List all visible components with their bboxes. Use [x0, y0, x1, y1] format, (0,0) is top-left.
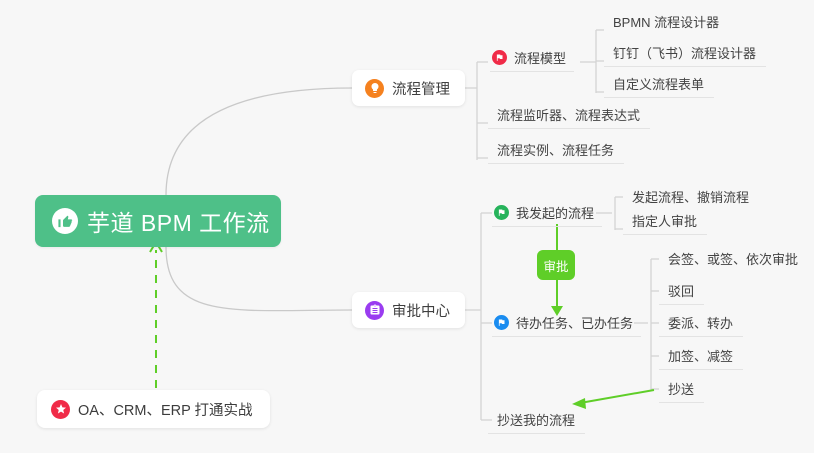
- leaf-process-listener-expression[interactable]: 流程监听器、流程表达式: [488, 101, 650, 129]
- root-node[interactable]: 芋道 BPM 工作流: [35, 195, 281, 247]
- branch-label: 流程管理: [392, 78, 450, 99]
- lightbulb-icon: [365, 79, 384, 98]
- flag-icon: [494, 315, 509, 330]
- node-my-started-process[interactable]: 我发起的流程: [492, 199, 602, 227]
- star-icon: [51, 400, 70, 419]
- leaf-assignee-approval[interactable]: 指定人审批: [623, 207, 707, 235]
- leaf-custom-process-form[interactable]: 自定义流程表单: [604, 70, 714, 98]
- thumbs-up-icon: [52, 208, 78, 234]
- branch-node-process-management[interactable]: 流程管理: [352, 70, 465, 106]
- branch-label: 审批中心: [392, 300, 450, 321]
- node-todo-done-tasks[interactable]: 待办任务、已办任务: [492, 309, 641, 337]
- integration-callout-card[interactable]: OA、CRM、ERP 打通实战: [37, 390, 270, 428]
- node-process-model[interactable]: 流程模型: [490, 44, 574, 72]
- leaf-reject[interactable]: 驳回: [659, 277, 704, 305]
- leaf-countersign-orsign-sequential[interactable]: 会签、或签、依次审批: [659, 245, 808, 273]
- mindmap-canvas: 芋道 BPM 工作流 流程管理 流程模型 BPMN 流程设计器 钉钉（飞书）流程…: [0, 0, 814, 453]
- leaf-cc[interactable]: 抄送: [659, 375, 704, 403]
- leaf-bpmn-designer[interactable]: BPMN 流程设计器: [604, 8, 729, 36]
- clipboard-icon: [365, 301, 384, 320]
- approval-arrow-label: 审批: [537, 250, 575, 280]
- flag-icon: [492, 50, 507, 65]
- leaf-dingtalk-feishu-designer[interactable]: 钉钉（飞书）流程设计器: [604, 39, 766, 67]
- flag-icon: [494, 205, 509, 220]
- integration-callout-label: OA、CRM、ERP 打通实战: [78, 399, 253, 420]
- root-label: 芋道 BPM 工作流: [87, 204, 270, 238]
- leaf-cc-to-me-process[interactable]: 抄送我的流程: [488, 406, 585, 434]
- node-label: 我发起的流程: [516, 203, 594, 222]
- node-label: 流程模型: [514, 48, 566, 67]
- branch-node-approval-center[interactable]: 审批中心: [352, 292, 465, 328]
- leaf-process-instance-task[interactable]: 流程实例、流程任务: [488, 136, 624, 164]
- leaf-add-remove-sign[interactable]: 加签、减签: [659, 342, 743, 370]
- node-label: 待办任务、已办任务: [516, 313, 633, 332]
- leaf-delegate-transfer[interactable]: 委派、转办: [659, 309, 743, 337]
